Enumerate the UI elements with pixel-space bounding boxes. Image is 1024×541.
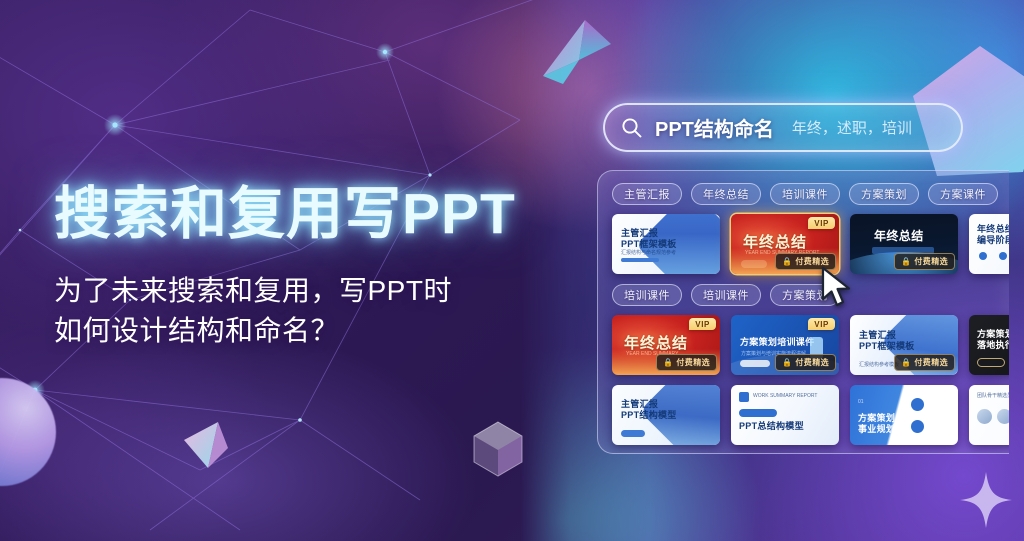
avatar — [997, 409, 1009, 424]
template-card[interactable]: 主管汇报 PPT框架模板 汇报结构参考模板 🔒 付费精选 — [850, 315, 958, 375]
sparkle-star-shape — [958, 470, 1014, 530]
card-title: 年终总结 — [743, 231, 807, 252]
filter-tag[interactable]: 培训课件 — [770, 183, 840, 205]
vip-badge: VIP — [808, 217, 835, 229]
template-card[interactable]: 主管汇报 PPT结构模型 — [612, 385, 720, 445]
card-title: 团队骨干精选员工 — [977, 393, 1009, 399]
lock-icon: 🔒 — [901, 258, 911, 266]
triangular-prism-shape — [523, 14, 623, 110]
paid-badge: 🔒 付费精选 — [656, 354, 717, 371]
paid-badge: 🔒 付费精选 — [894, 253, 955, 270]
card-title: 年终总结 — [977, 224, 1009, 235]
card-caption: 汇报结构与命名规范参考 — [621, 250, 676, 256]
tetrahedron-shape — [178, 418, 238, 474]
paid-label: 付费精选 — [914, 256, 948, 267]
search-bar[interactable]: PPT结构命名 年终，述职，培训 — [603, 103, 963, 152]
card-title: 主管汇报 — [621, 228, 677, 239]
lock-icon: 🔒 — [663, 359, 673, 367]
page-title: 搜索和复用写PPT — [54, 186, 574, 243]
lock-icon: 🔒 — [782, 258, 792, 266]
paid-label: 付费精选 — [795, 357, 829, 368]
template-card[interactable]: VIP 年终总结 YEAR END SUMMARY 🔒 付费精选 — [612, 315, 720, 375]
filter-tag[interactable]: 培训课件 — [691, 284, 761, 306]
tag-row-2: 培训课件 培训课件 方案策划 — [612, 284, 1009, 306]
page-subtitle: 为了未来搜索和复用，写PPT时 如何设计结构和命名？ — [54, 271, 574, 351]
card-title: 方案策划培训课件 — [740, 337, 814, 348]
subtitle-line-1: 为了未来搜索和复用，写PPT时 — [54, 271, 574, 311]
card-subtitle: 落地执行方案 — [977, 340, 1009, 351]
filter-tag[interactable]: 方案课件 — [928, 183, 998, 205]
card-title: 年终总结 — [624, 332, 688, 353]
card-caption: WORK SUMMARY REPORT — [753, 393, 817, 399]
card-subtitle: PPT结构模型 — [621, 410, 677, 421]
lock-icon: 🔒 — [901, 359, 911, 367]
vip-badge: VIP — [689, 318, 716, 330]
paid-label: 付费精选 — [914, 357, 948, 368]
tag-row-1: 主管汇报 年终总结 培训课件 方案策划 方案课件 — [612, 183, 1009, 205]
subtitle-line-2: 如何设计结构和命名？ — [54, 311, 574, 351]
paid-badge: 🔒 付费精选 — [894, 354, 955, 371]
filter-tag[interactable]: 培训课件 — [612, 284, 682, 306]
card-title: 主管汇报 — [621, 399, 677, 410]
search-results-panel: 主管汇报 年终总结 培训课件 方案策划 方案课件 主管汇报 PPT框架模板 汇报… — [597, 170, 1009, 454]
template-card[interactable]: 01 方案策划 事业规划指南 — [850, 385, 958, 445]
mouse-cursor — [820, 266, 854, 310]
glass-cube-shape — [470, 418, 526, 480]
paid-label: 付费精选 — [676, 357, 710, 368]
template-card-row: 主管汇报 PPT结构模型 WORK SUMMARY REPORT PPT总结构模… — [612, 385, 1009, 445]
card-title: 年终总结 — [874, 229, 924, 243]
template-card[interactable]: 主管汇报 PPT框架模板 汇报结构与命名规范参考 — [612, 214, 720, 274]
template-card[interactable]: 年终总结 编导阶段复盘要点 — [969, 214, 1009, 274]
headline-block: 搜索和复用写PPT 为了未来搜索和复用，写PPT时 如何设计结构和命名？ — [54, 186, 574, 351]
template-card[interactable]: VIP 方案策划培训课件 方案策划与培训实施流程讲解 🔒 付费精选 — [731, 315, 839, 375]
card-title: 主管汇报 — [859, 330, 915, 341]
card-subtitle: PPT框架模板 — [859, 341, 915, 352]
search-hint-text: 年终，述职，培训 — [792, 117, 912, 138]
avatar — [977, 409, 992, 424]
template-card[interactable]: WORK SUMMARY REPORT PPT总结构模型 — [731, 385, 839, 445]
card-title: 方案策划 — [858, 413, 914, 424]
card-title: PPT总结构模型 — [739, 421, 804, 432]
card-subtitle: 事业规划指南 — [858, 424, 914, 435]
filter-tag[interactable]: 年终总结 — [691, 183, 761, 205]
card-subtitle: 编导阶段复盘要点 — [977, 235, 1009, 246]
promo-banner: 搜索和复用写PPT 为了未来搜索和复用，写PPT时 如何设计结构和命名？ PPT… — [0, 0, 1024, 541]
lock-icon: 🔒 — [782, 359, 792, 367]
card-caption: 汇报结构参考模板 — [859, 362, 899, 368]
card-subtitle: PPT框架模板 — [621, 239, 677, 250]
search-input[interactable]: PPT结构命名 — [655, 113, 774, 142]
template-card[interactable]: VIP 年终总结 YEAR END SUMMARY REPORT 🔒 付费精选 — [731, 214, 839, 274]
template-card[interactable]: 方案策划 落地执行方案 — [969, 315, 1009, 375]
template-card[interactable]: 年终总结 🔒 付费精选 — [850, 214, 958, 274]
filter-tag[interactable]: 主管汇报 — [612, 183, 682, 205]
card-title: 方案策划 — [977, 329, 1009, 340]
paid-badge: 🔒 付费精选 — [775, 354, 836, 371]
search-icon — [621, 117, 643, 139]
template-card-row: VIP 年终总结 YEAR END SUMMARY 🔒 付费精选 VIP 方案策… — [612, 315, 1009, 375]
filter-tag[interactable]: 方案策划 — [849, 183, 919, 205]
template-card-row: 主管汇报 PPT框架模板 汇报结构与命名规范参考 VIP 年终总结 YEAR E… — [612, 214, 1009, 274]
vip-badge: VIP — [808, 318, 835, 330]
card-caption: 01 — [858, 399, 864, 405]
template-card[interactable]: 团队骨干精选员工 — [969, 385, 1009, 445]
